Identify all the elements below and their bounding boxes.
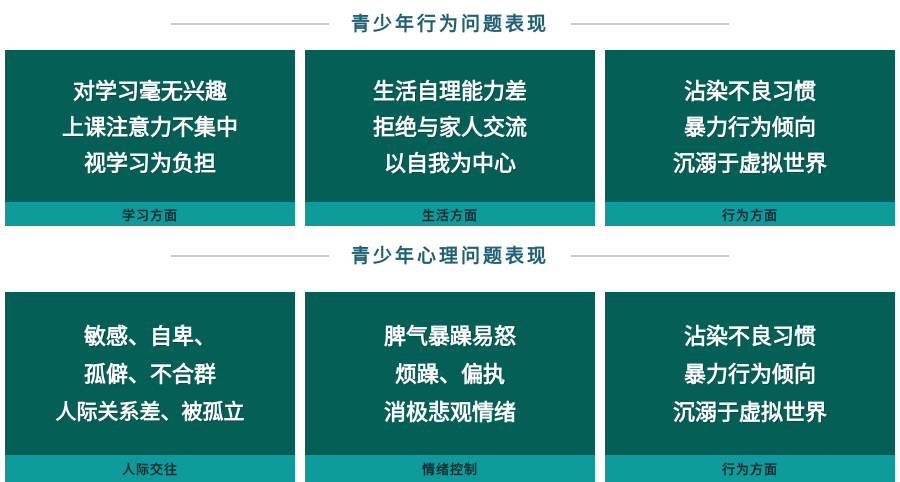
card-emotion[interactable]: 脾气暴躁易怒 烦躁、偏执 消极悲观情绪 情绪控制	[305, 292, 595, 482]
card-line: 沉溺于虚拟世界	[673, 153, 827, 175]
card-line: 沉溺于虚拟世界	[673, 402, 827, 424]
card-behavior-2[interactable]: 沾染不良习惯 暴力行为倾向 沉溺于虚拟世界 行为方面	[605, 292, 895, 482]
card-line: 孤僻、不合群	[84, 364, 216, 386]
card-line: 视学习为负担	[84, 153, 216, 175]
card-body: 沾染不良习惯 暴力行为倾向 沉溺于虚拟世界	[605, 292, 895, 455]
heading-rule-left	[171, 255, 329, 257]
card-row-psychology: 敏感、自卑、 孤僻、不合群 人际关系差、被孤立 人际交往 脾气暴躁易怒 烦躁、偏…	[5, 292, 895, 482]
card-label-emotion: 情绪控制	[305, 455, 595, 482]
card-study[interactable]: 对学习毫无兴趣 上课注意力不集中 视学习为负担 学习方面	[5, 50, 295, 226]
card-body: 对学习毫无兴趣 上课注意力不集中 视学习为负担	[5, 50, 295, 202]
card-row-behavior: 对学习毫无兴趣 上课注意力不集中 视学习为负担 学习方面 生活自理能力差 拒绝与…	[5, 50, 895, 226]
heading-rule-right	[571, 255, 729, 257]
section-title-behavior: 青少年行为问题表现	[351, 15, 549, 34]
card-line: 沾染不良习惯	[684, 81, 816, 103]
card-line: 以自我为中心	[384, 153, 516, 175]
card-line: 生活自理能力差	[373, 81, 527, 103]
card-body: 生活自理能力差 拒绝与家人交流 以自我为中心	[305, 50, 595, 202]
card-behavior[interactable]: 沾染不良习惯 暴力行为倾向 沉溺于虚拟世界 行为方面	[605, 50, 895, 226]
section-title-psychology: 青少年心理问题表现	[351, 247, 549, 266]
card-line: 暴力行为倾向	[684, 364, 816, 386]
card-line: 暴力行为倾向	[684, 117, 816, 139]
infographic-page: 青少年行为问题表现 对学习毫无兴趣 上课注意力不集中 视学习为负担 学习方面 生…	[0, 0, 900, 482]
card-label-life: 生活方面	[305, 202, 595, 226]
card-label-study: 学习方面	[5, 202, 295, 226]
card-line: 脾气暴躁易怒	[384, 326, 516, 348]
heading-rule-left	[171, 23, 329, 25]
card-body: 沾染不良习惯 暴力行为倾向 沉溺于虚拟世界	[605, 50, 895, 202]
card-label-interpersonal: 人际交往	[5, 455, 295, 482]
card-life[interactable]: 生活自理能力差 拒绝与家人交流 以自我为中心 生活方面	[305, 50, 595, 226]
card-line: 上课注意力不集中	[62, 117, 238, 139]
card-line: 消极悲观情绪	[384, 402, 516, 424]
card-body: 脾气暴躁易怒 烦躁、偏执 消极悲观情绪	[305, 292, 595, 455]
card-label-behavior: 行为方面	[605, 202, 895, 226]
card-line: 敏感、自卑、	[84, 326, 216, 348]
card-line: 人际关系差、被孤立	[56, 402, 245, 423]
card-line: 对学习毫无兴趣	[73, 81, 227, 103]
card-interpersonal[interactable]: 敏感、自卑、 孤僻、不合群 人际关系差、被孤立 人际交往	[5, 292, 295, 482]
card-line: 沾染不良习惯	[684, 326, 816, 348]
card-label-behavior-2: 行为方面	[605, 455, 895, 482]
heading-rule-right	[571, 23, 729, 25]
section-heading-behavior: 青少年行为问题表现	[0, 4, 900, 44]
card-body: 敏感、自卑、 孤僻、不合群 人际关系差、被孤立	[5, 292, 295, 455]
card-line: 烦躁、偏执	[395, 364, 505, 386]
section-heading-psychology: 青少年心理问题表现	[0, 236, 900, 276]
card-line: 拒绝与家人交流	[373, 117, 527, 139]
